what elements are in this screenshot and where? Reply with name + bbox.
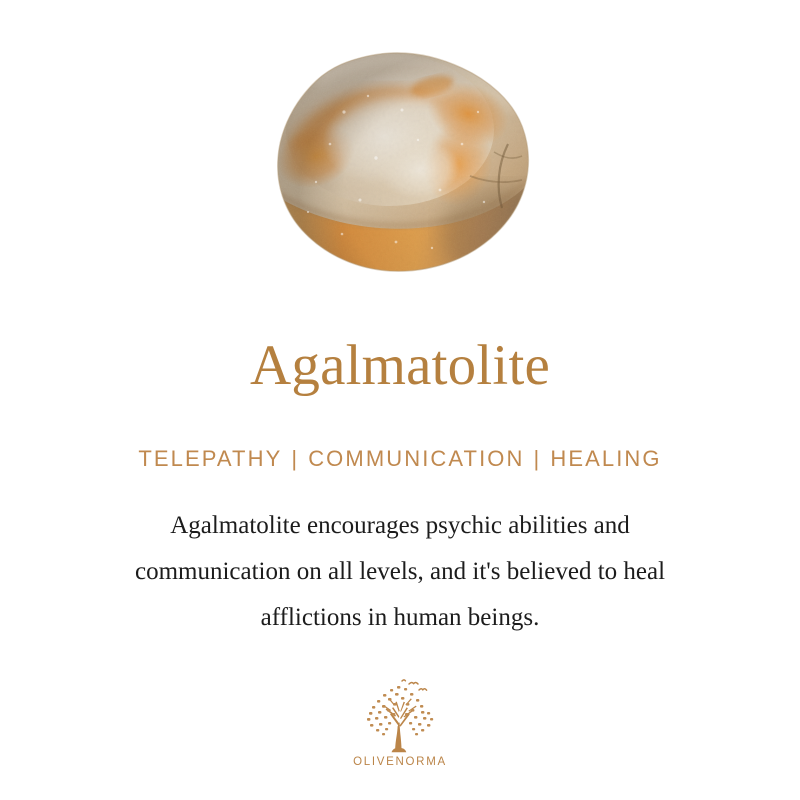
- page-title: Agalmatolite: [0, 336, 800, 396]
- keyword-healing: HEALING: [550, 446, 661, 471]
- description-line-1: Agalmatolite encourages psychic abilitie…: [50, 503, 750, 549]
- description-line-3: afflictions in human beings.: [50, 595, 750, 641]
- keyword-list: TELEPATHY|COMMUNICATION|HEALING: [0, 446, 800, 472]
- stone-image-region: [0, 0, 800, 300]
- keyword-separator-2: |: [525, 446, 551, 472]
- olive-tree-icon: [357, 678, 443, 754]
- stone-description: Agalmatolite encourages psychic abilitie…: [50, 503, 750, 641]
- brand-wordmark: OLIVENORMA: [353, 756, 447, 768]
- keyword-telepathy: TELEPATHY: [138, 446, 282, 471]
- description-line-2: communication on all levels, and it's be…: [50, 549, 750, 595]
- stone-info-card: Agalmatolite TELEPATHY|COMMUNICATION|HEA…: [0, 0, 800, 800]
- keyword-separator-1: |: [282, 446, 308, 472]
- keyword-communication: COMMUNICATION: [308, 446, 524, 471]
- agalmatolite-stone-image: [272, 52, 537, 282]
- brand-logo: OLIVENORMA: [0, 678, 800, 768]
